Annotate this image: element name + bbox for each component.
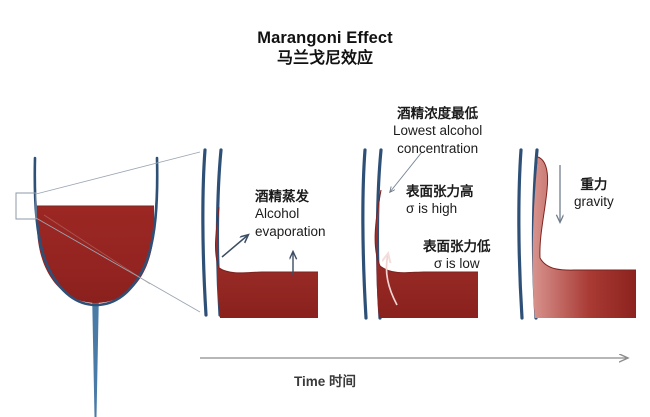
label-gravity: 重力 gravity	[574, 176, 614, 211]
label-alcohol-evaporation-en-line1: Alcohol	[255, 205, 326, 222]
wine-body	[37, 206, 154, 303]
label-lowest-concentration-en-line2: concentration	[393, 140, 482, 157]
label-sigma-high-zh: 表面张力高	[406, 183, 474, 200]
panel-2	[363, 150, 478, 318]
label-sigma-low-zh: 表面张力低	[423, 238, 491, 255]
label-alcohol-evaporation-zh: 酒精蒸发	[255, 188, 326, 205]
panel-2-outer-wall	[363, 150, 366, 318]
page-title: Marangoni Effect 马兰戈尼效应	[0, 28, 650, 69]
title-english: Marangoni Effect	[0, 28, 650, 49]
evaporation-arrow-wall	[222, 235, 248, 257]
label-lowest-concentration: 酒精浓度最低 Lowest alcohol concentration	[393, 105, 482, 157]
callout-line-top	[36, 152, 200, 194]
panel-3-outer-wall	[519, 150, 522, 318]
label-alcohol-evaporation-en-line2: evaporation	[255, 223, 326, 240]
label-sigma-low: 表面张力低 σ is low	[423, 238, 491, 273]
panel-1-outer-wall	[203, 150, 206, 315]
label-lowest-concentration-zh: 酒精浓度最低	[393, 105, 482, 122]
magnifier-rectangle	[16, 193, 36, 219]
panel-3-meniscus	[538, 157, 636, 270]
label-lowest-concentration-en-line1: Lowest alcohol	[393, 122, 482, 139]
label-gravity-en: gravity	[574, 193, 614, 210]
glass-stem	[92, 290, 99, 417]
label-time-axis: Time 时间	[0, 370, 650, 390]
label-alcohol-evaporation: 酒精蒸发 Alcohol evaporation	[255, 188, 326, 240]
title-chinese: 马兰戈尼效应	[0, 49, 650, 69]
label-sigma-high-en: σ is high	[406, 200, 474, 217]
label-gravity-zh: 重力	[574, 176, 614, 193]
label-sigma-low-en: σ is low	[423, 255, 491, 272]
label-sigma-high: 表面张力高 σ is high	[406, 183, 474, 218]
